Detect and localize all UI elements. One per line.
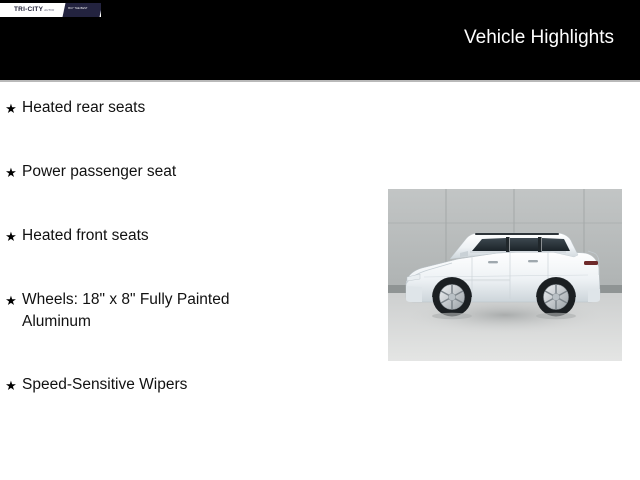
list-item: ★ Speed-Sensitive Wipers — [0, 374, 330, 397]
list-item: ★ Wheels: 18" x 8" Fully Painted Aluminu… — [0, 289, 330, 333]
list-item: ★ Heated front seats — [0, 225, 330, 248]
vehicle-highlights-list: ★ Heated rear seats ★ Power passenger se… — [0, 97, 330, 438]
page-title: Vehicle Highlights — [464, 28, 614, 47]
list-item: ★ Heated rear seats — [0, 97, 330, 120]
dealer-logo-name: TRI-CITY — [14, 7, 43, 13]
vehicle-photo — [388, 189, 622, 361]
dealer-logo-badge: BUY THE BEST — [63, 3, 101, 17]
dealer-logo[interactable]: TRI-CITY AUTOMOTIVE GROUP BUY THE BEST — [0, 3, 101, 17]
list-item-label: Wheels: 18" x 8" Fully Painted Aluminum — [22, 289, 284, 333]
list-item-label: Speed-Sensitive Wipers — [22, 374, 187, 396]
list-item-label: Power passenger seat — [22, 161, 176, 183]
star-icon: ★ — [0, 161, 22, 184]
page-header: TRI-CITY AUTOMOTIVE GROUP BUY THE BEST V… — [0, 0, 640, 80]
list-item-label: Heated front seats — [22, 225, 149, 247]
header-divider — [0, 80, 640, 82]
list-item: ★ Power passenger seat — [0, 161, 330, 184]
star-icon: ★ — [0, 225, 22, 248]
star-icon: ★ — [0, 374, 22, 397]
star-icon: ★ — [0, 289, 22, 312]
star-icon: ★ — [0, 97, 22, 120]
list-item-label: Heated rear seats — [22, 97, 145, 119]
vehicle-photo-image — [388, 189, 622, 361]
dealer-logo-badge-text: BUY THE BEST — [68, 7, 100, 10]
